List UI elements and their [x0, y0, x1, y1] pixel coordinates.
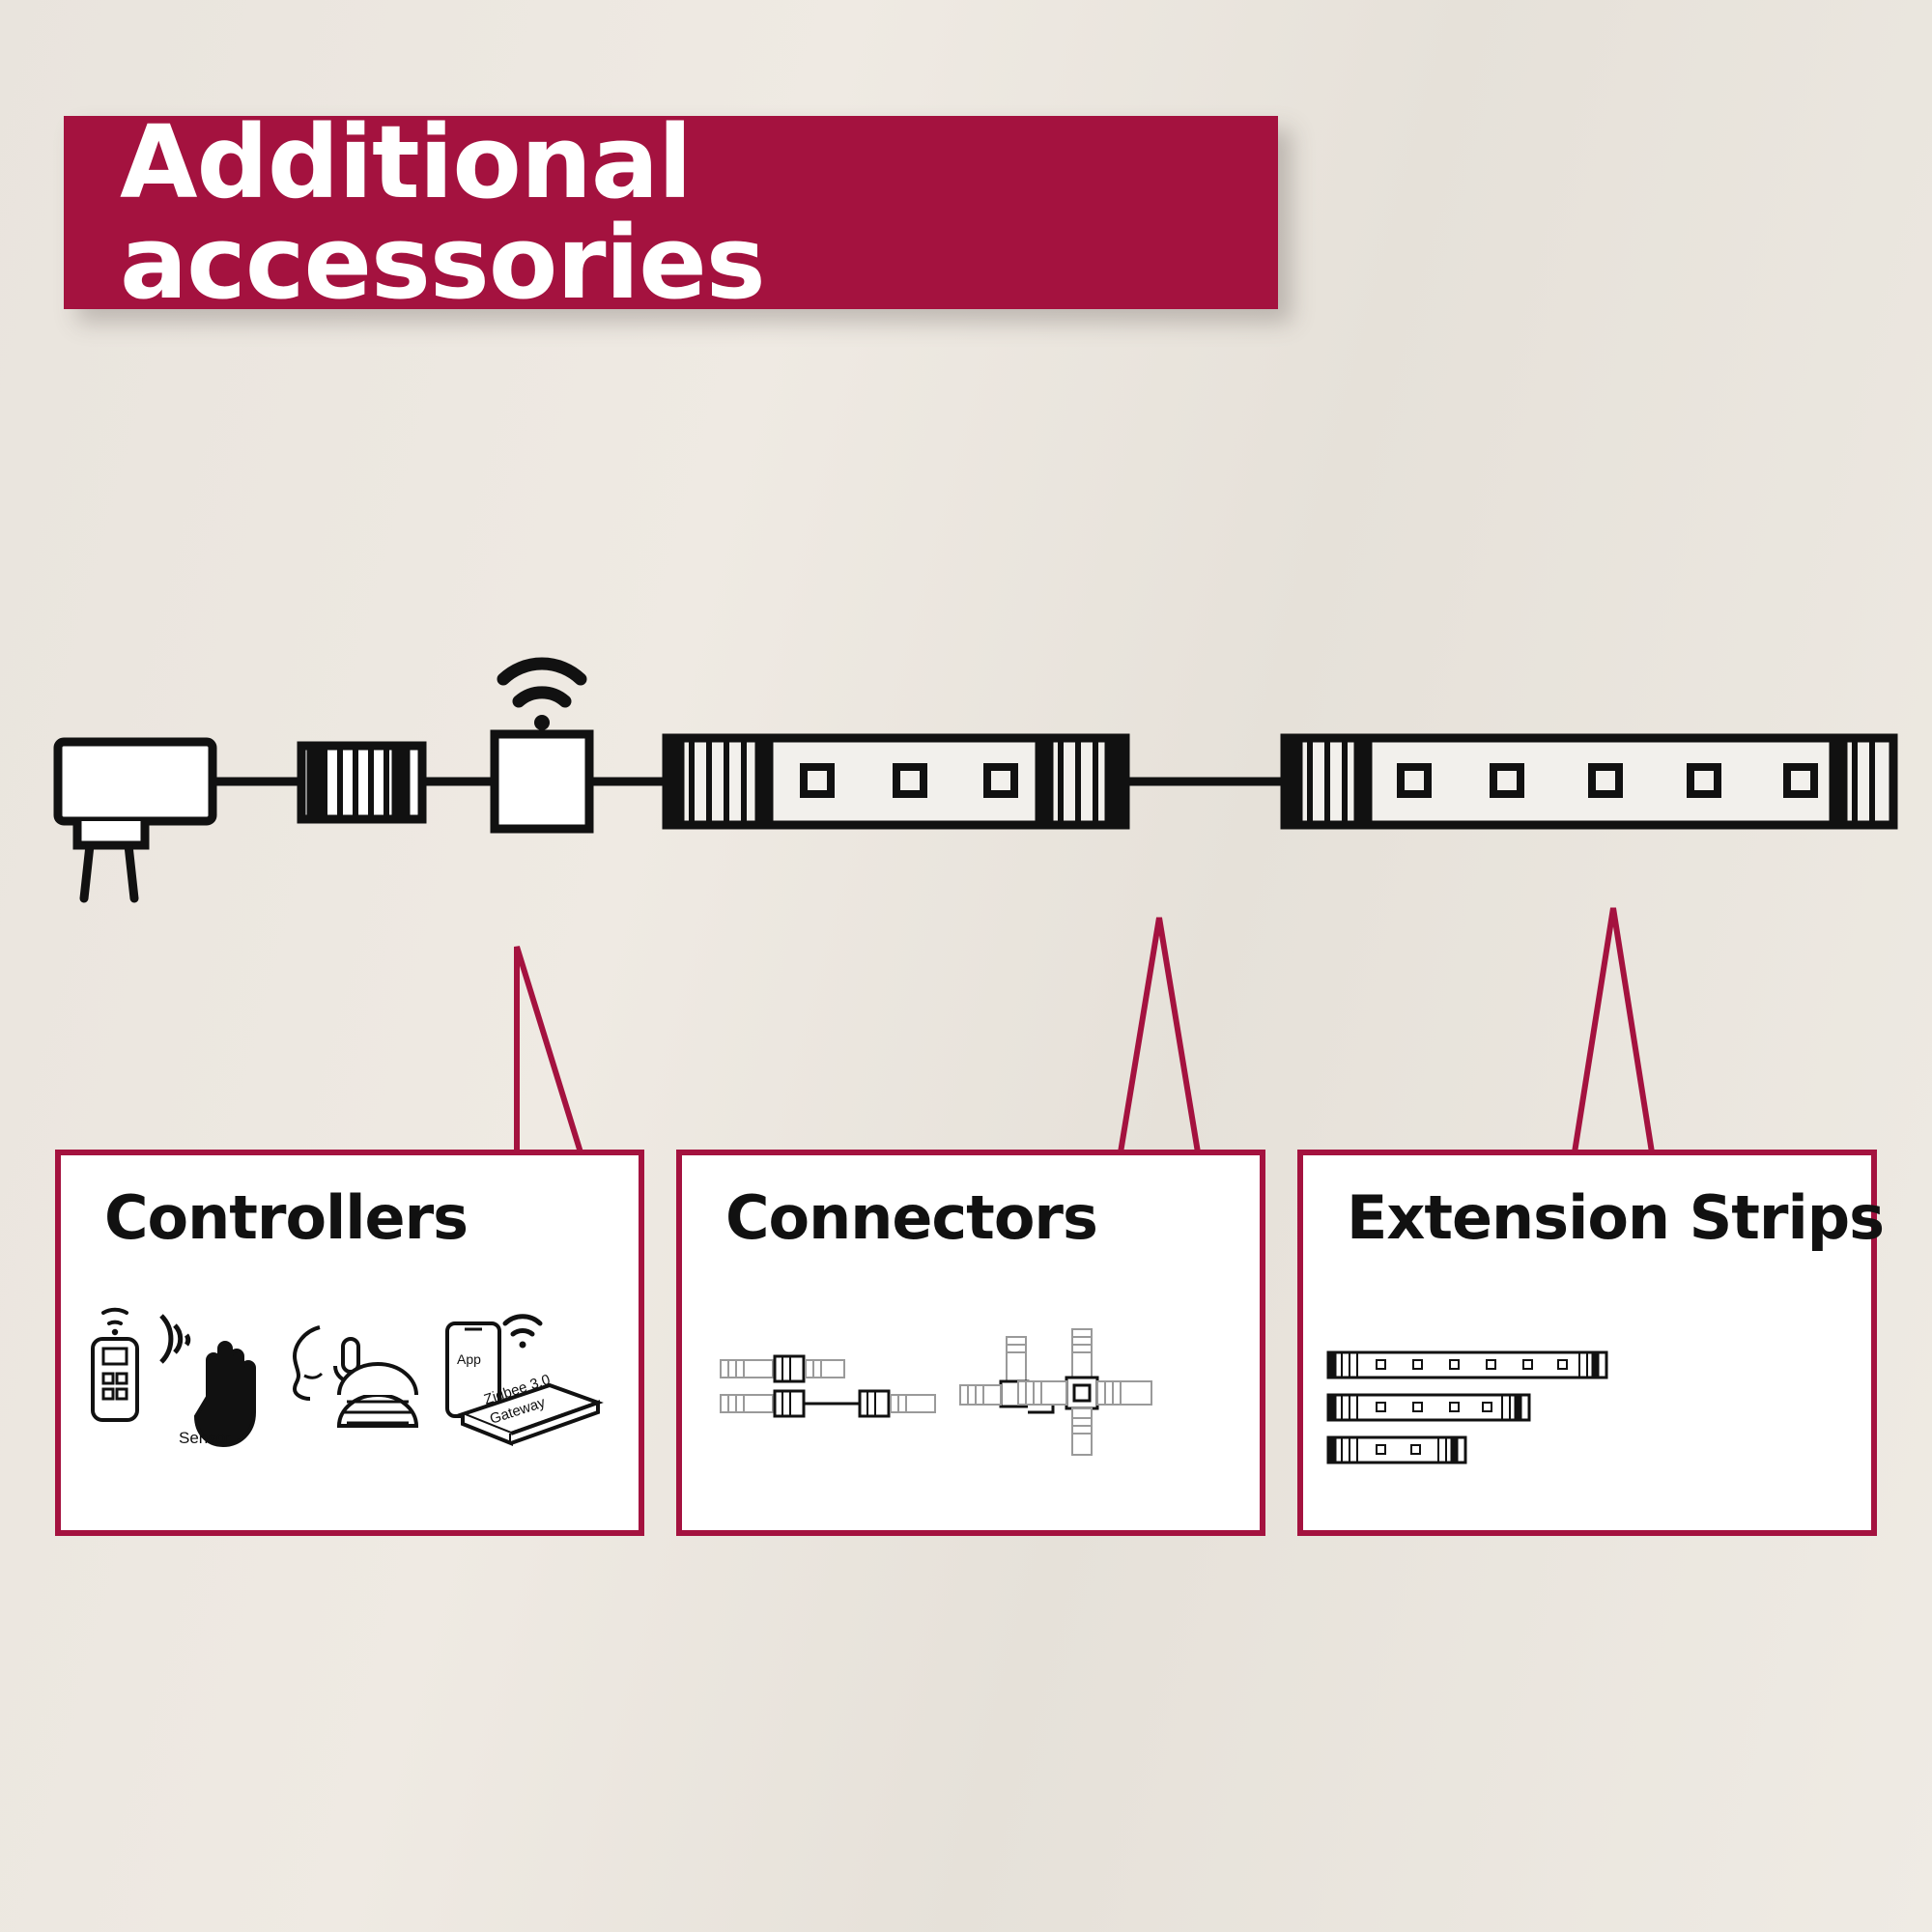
- title-banner: Additional accessories: [64, 116, 1278, 309]
- extension-strip-long-icon: [1328, 1352, 1606, 1378]
- callout-extension-strips[interactable]: Extension Strips: [1297, 1150, 1877, 1536]
- page-title: Additional accessories: [64, 112, 1278, 313]
- remote-control-icon: [93, 1310, 137, 1420]
- extension-strip-medium-icon: [1328, 1395, 1529, 1420]
- led-strip-short-icon: [667, 738, 1125, 825]
- chain-diagram: [0, 638, 1932, 927]
- cross-connector-icon: [1018, 1329, 1151, 1455]
- callout-connectors[interactable]: Connectors: [676, 1150, 1265, 1536]
- extension-strip-short-icon: [1328, 1437, 1465, 1463]
- motion-sensor-icon: [161, 1316, 254, 1445]
- callout-title-connectors: Connectors: [725, 1182, 1097, 1253]
- power-supply-icon: [58, 742, 213, 898]
- callout-title-controllers: Controllers: [104, 1182, 468, 1253]
- callout-title-extension: Extension Strips: [1347, 1182, 1884, 1253]
- wifi-small-icon: [505, 1317, 540, 1349]
- led-strip-long-icon: [1285, 738, 1893, 825]
- app-label: App: [457, 1351, 481, 1367]
- callout-controllers[interactable]: Controllers: [55, 1150, 644, 1536]
- extension-strips-icon-group: [1303, 1281, 1871, 1532]
- strip-to-strip-connector-icon: [721, 1356, 935, 1416]
- wireless-controller-icon: [495, 734, 589, 829]
- controllers-icon-group: App Sensor Zigbee 3.0 Gateway: [61, 1281, 639, 1532]
- connector-block-icon: [301, 746, 422, 819]
- connectors-icon-group: [682, 1281, 1260, 1532]
- voice-assistant-icon: [295, 1327, 416, 1426]
- wifi-icon: [503, 664, 581, 730]
- sensor-label: Sensor: [179, 1429, 231, 1447]
